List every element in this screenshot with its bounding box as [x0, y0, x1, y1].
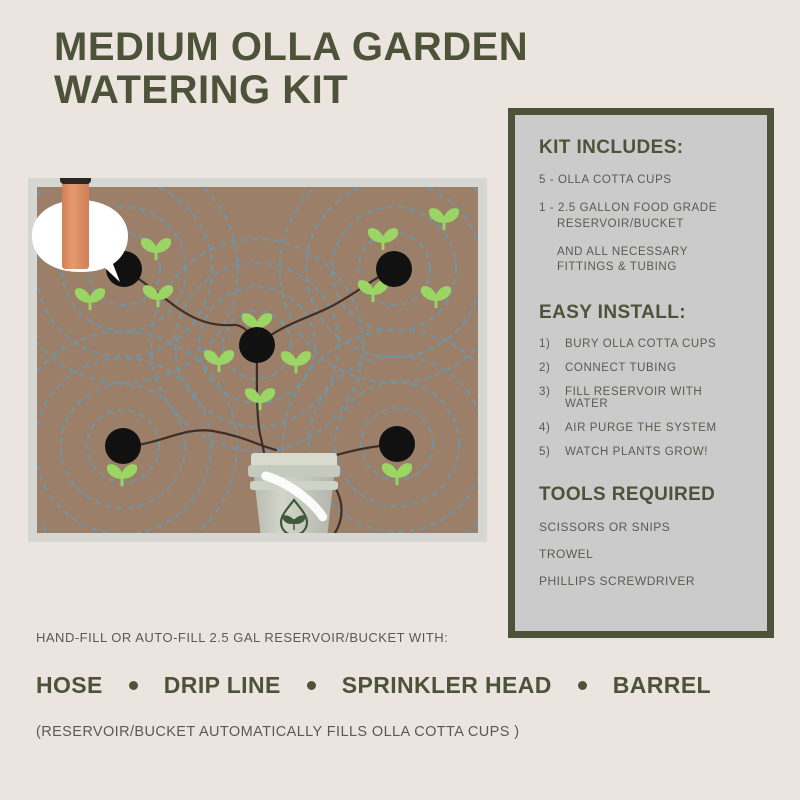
title-line-1: Medium Olla Garden: [54, 26, 654, 69]
olla-marker: [376, 251, 412, 287]
step-number: 5): [539, 446, 565, 458]
garden-diagram: [28, 178, 487, 542]
step-text: Watch Plants Grow!: [565, 446, 708, 458]
separator-dot-icon: [578, 681, 587, 690]
step-number: 1): [539, 338, 565, 350]
olla-marker: [239, 327, 275, 363]
kit-item-text: And All Necessary: [557, 246, 688, 258]
olla-marker: [105, 428, 141, 464]
water-source-drip-line: Drip Line: [164, 672, 281, 699]
tool-item: Phillips Screwdriver: [539, 574, 747, 588]
kit-item-subtext: Reservoir/Bucket: [539, 217, 747, 233]
kit-item-subtext: Fittings & Tubing: [557, 260, 747, 276]
step-text: Connect Tubing: [565, 362, 676, 374]
install-step: 4) Air Purge The System: [539, 422, 747, 434]
page-title: Medium Olla Garden Watering Kit: [54, 26, 654, 112]
separator-dot-icon: [307, 681, 316, 690]
step-text: Air Purge The System: [565, 422, 717, 434]
install-step: 5) Watch Plants Grow!: [539, 446, 747, 458]
reservoir-bucket: [248, 453, 340, 542]
fill-note: Hand-Fill Or Auto-Fill 2.5 Gal Reservoir…: [36, 630, 766, 645]
olla-marker: [379, 426, 415, 462]
bottom-text-block: Hand-Fill Or Auto-Fill 2.5 Gal Reservoir…: [36, 630, 766, 740]
step-number: 2): [539, 362, 565, 374]
separator-dot-icon: [129, 681, 138, 690]
tools-required-heading: Tools Required: [539, 484, 747, 506]
kit-item: 5 - Olla Cotta Cups: [539, 173, 747, 189]
kit-item-text: 5 - Olla Cotta Cups: [539, 174, 672, 186]
kit-item: And All Necessary Fittings & Tubing: [539, 245, 747, 277]
install-step: 3) Fill Reservoir With Water: [539, 386, 747, 410]
easy-install-heading: Easy Install:: [539, 302, 747, 324]
install-step: 2) Connect Tubing: [539, 362, 747, 374]
tool-item: Trowel: [539, 547, 747, 561]
water-source-hose: Hose: [36, 672, 103, 699]
water-source-barrel: Barrel: [613, 672, 711, 699]
olla-cup-icon: [60, 178, 91, 269]
tool-item: Scissors Or Snips: [539, 520, 747, 534]
step-text: Bury Olla Cotta Cups: [565, 338, 716, 350]
kit-item: 1 - 2.5 Gallon Food Grade Reservoir/Buck…: [539, 201, 747, 233]
install-step: 1) Bury Olla Cotta Cups: [539, 338, 747, 350]
title-line-2: Watering Kit: [54, 69, 654, 112]
kit-item-text: 1 - 2.5 Gallon Food Grade: [539, 202, 717, 214]
step-number: 3): [539, 386, 565, 410]
water-source-list: Hose Drip Line Sprinkler Head Barrel: [36, 672, 766, 699]
kit-includes-heading: Kit Includes:: [539, 137, 747, 159]
info-panel: Kit Includes: 5 - Olla Cotta Cups 1 - 2.…: [508, 108, 774, 638]
water-source-sprinkler-head: Sprinkler Head: [342, 672, 552, 699]
step-number: 4): [539, 422, 565, 434]
auto-fill-note: (Reservoir/Bucket Automatically Fills Ol…: [36, 724, 766, 740]
step-text: Fill Reservoir With Water: [565, 386, 747, 410]
